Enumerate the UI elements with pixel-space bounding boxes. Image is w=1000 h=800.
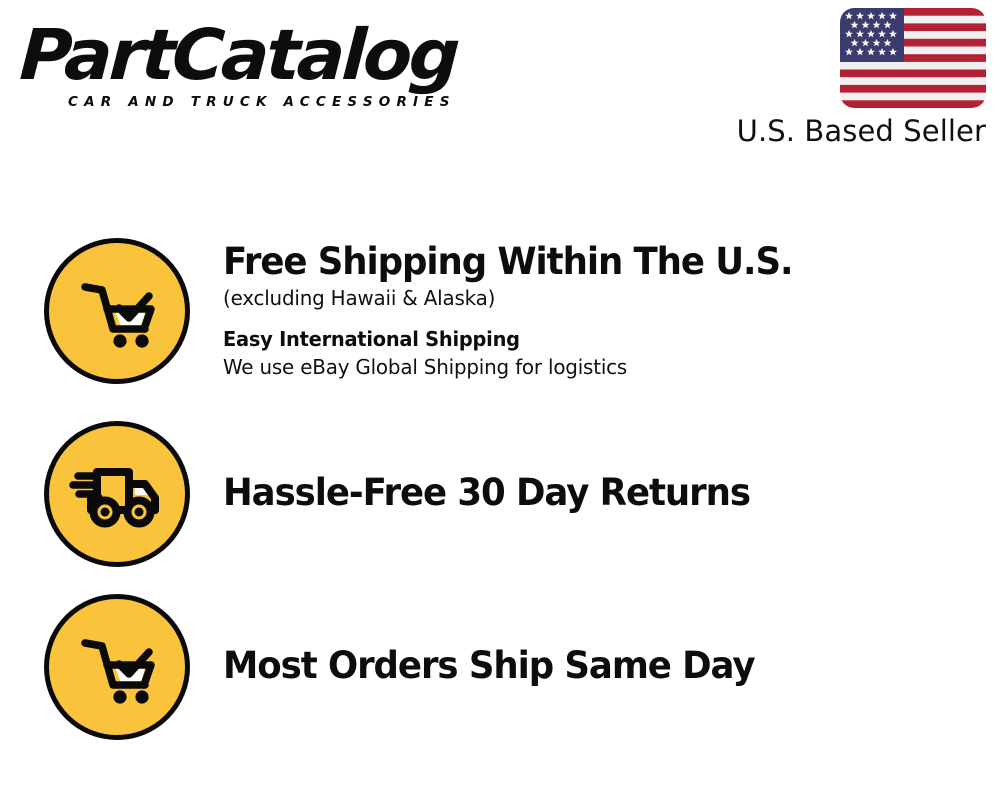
feature-detail: We use eBay Global Shipping for logistic…: [223, 353, 961, 382]
feature-badge-same-day: [44, 594, 190, 740]
feature-subtitle: (excluding Hawaii & Alaska): [223, 284, 961, 312]
us-based-seller-badge: U.S. Based Seller: [716, 8, 986, 148]
us-flag-icon: [840, 8, 986, 108]
brand-header: PartCatalog CAR AND TRUCK ACCESSORIES: [0, 0, 1000, 175]
feature-row-free-shipping: Free Shipping Within The U.S. (excluding…: [44, 238, 984, 384]
feature-text-free-shipping: Free Shipping Within The U.S. (excluding…: [190, 238, 984, 382]
feature-text-same-day: Most Orders Ship Same Day: [190, 594, 984, 688]
seller-badge-label: U.S. Based Seller: [716, 114, 986, 148]
feature-title: Free Shipping Within The U.S.: [223, 240, 954, 284]
feature-row-returns: Hassle-Free 30 Day Returns: [44, 421, 984, 567]
feature-badge-free-shipping: [44, 238, 190, 384]
feature-row-same-day-shipping: Most Orders Ship Same Day: [44, 594, 984, 740]
brand-logo-wordmark: PartCatalog: [18, 18, 459, 92]
brand-logo-tagline: CAR AND TRUCK ACCESSORIES: [68, 94, 456, 110]
feature-subhead: Easy International Shipping: [223, 326, 961, 353]
feature-title: Hassle-Free 30 Day Returns: [223, 471, 954, 515]
feature-badge-returns: [44, 421, 190, 567]
feature-title: Most Orders Ship Same Day: [223, 644, 954, 688]
brand-logo[interactable]: PartCatalog CAR AND TRUCK ACCESSORIES: [22, 18, 492, 113]
feature-text-returns: Hassle-Free 30 Day Returns: [190, 421, 984, 515]
